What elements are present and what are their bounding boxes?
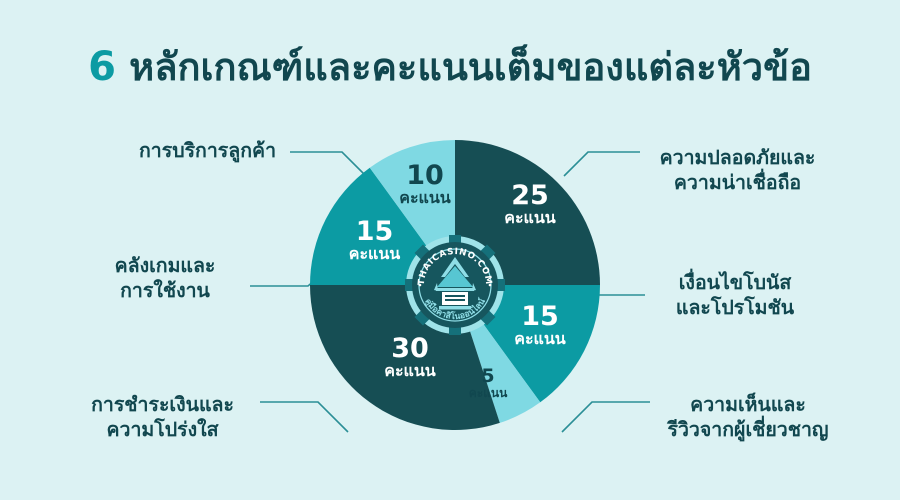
callout-safety-line2: ความน่าเชื่อถือ: [630, 171, 845, 196]
title-number: 6: [88, 44, 116, 90]
callout-payments: การชำระเงินและ ความโปร่งใส: [60, 393, 265, 443]
callout-games: คลังเกมและ การใช้งาน: [75, 254, 255, 304]
callout-games-line2: การใช้งาน: [75, 279, 255, 304]
infographic-page: 6 หลักเกณฑ์และคะแนนเต็มของแต่ละหัวข้อ: [0, 0, 900, 500]
callout-bonus-line2: และโปรโมชัน: [640, 296, 830, 321]
callout-payments-line1: การชำระเงินและ: [60, 393, 265, 418]
callout-reviews: ความเห็นและ รีวิวจากผู้เชี่ยวชาญ: [632, 393, 864, 443]
callout-support: การบริการลูกค้า: [110, 139, 305, 164]
logo-dot-left: [419, 284, 422, 287]
callout-support-line1: การบริการลูกค้า: [110, 139, 305, 164]
callout-bonus-line1: เงื่อนไขโบนัส: [640, 271, 830, 296]
callout-bonus: เงื่อนไขโบนัส และโปรโมชัน: [640, 271, 830, 321]
callout-safety-line1: ความปลอดภัยและ: [630, 146, 845, 171]
logo-dot-right: [489, 284, 492, 287]
callout-payments-line2: ความโปร่งใส: [60, 418, 265, 443]
title-text: หลักเกณฑ์และคะแนนเต็มของแต่ละหัวข้อ: [129, 45, 812, 89]
pie-chart: 10 คะแนน 25 คะแนน 15 คะแนน 15 คะแนน 30 ค…: [310, 140, 600, 430]
thaicasino-logo: THAICASINO.COM คู่มือคาสิโนออนไลน์: [405, 235, 505, 335]
callout-reviews-line1: ความเห็นและ: [632, 393, 864, 418]
callout-safety: ความปลอดภัยและ ความน่าเชื่อถือ: [630, 146, 845, 196]
callout-games-line1: คลังเกมและ: [75, 254, 255, 279]
page-title: 6 หลักเกณฑ์และคะแนนเต็มของแต่ละหัวข้อ: [0, 36, 900, 97]
callout-reviews-line2: รีวิวจากผู้เชี่ยวชาญ: [632, 418, 864, 443]
